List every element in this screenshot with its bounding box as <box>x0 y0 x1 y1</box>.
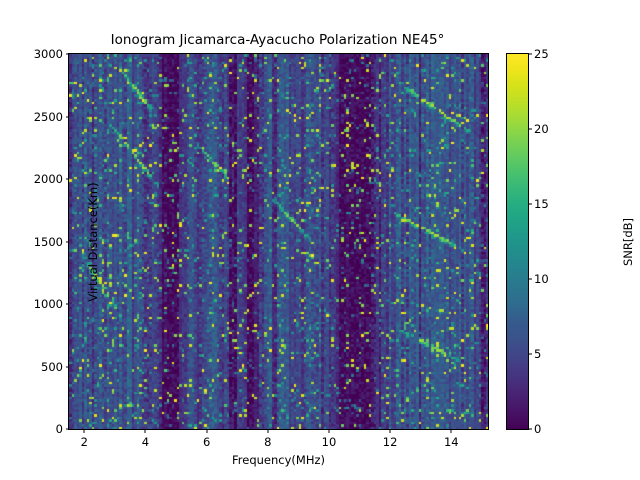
colorbar-label: SNR[dB] <box>548 162 640 322</box>
y-tick-label: 2000 <box>34 172 63 186</box>
x-axis-label: Frequency(MHz) <box>69 453 488 467</box>
y-tick-mark <box>66 179 70 180</box>
x-tick-mark <box>267 429 268 433</box>
x-tick-mark <box>84 429 85 433</box>
x-tick-mark <box>328 429 329 433</box>
colorbar-tick-label: 10 <box>534 272 549 286</box>
y-tick-label: 0 <box>56 422 63 436</box>
colorbar-tick-label: 25 <box>534 47 549 61</box>
ionogram-heatmap <box>69 54 488 429</box>
y-tick-mark <box>66 241 70 242</box>
x-tick-label: 6 <box>203 435 210 449</box>
colorbar-tick-mark <box>528 129 532 130</box>
colorbar-tick-mark <box>528 279 532 280</box>
y-tick-label: 3000 <box>34 47 63 61</box>
y-tick-mark <box>66 304 70 305</box>
x-tick-label: 14 <box>444 435 459 449</box>
y-tick-mark <box>66 366 70 367</box>
colorbar-tick-label: 15 <box>534 197 549 211</box>
y-tick-label: 1500 <box>34 235 63 249</box>
colorbar-tick-mark <box>528 354 532 355</box>
x-tick-label: 2 <box>81 435 88 449</box>
y-tick-label: 2500 <box>34 110 63 124</box>
x-tick-mark <box>145 429 146 433</box>
x-tick-label: 8 <box>264 435 271 449</box>
x-tick-label: 10 <box>322 435 337 449</box>
x-tick-mark <box>206 429 207 433</box>
colorbar-tick-mark <box>528 54 532 55</box>
y-tick-mark <box>66 429 70 430</box>
colorbar-tick-mark <box>528 204 532 205</box>
snr-colorbar: 0510152025 SNR[dB] <box>506 53 529 430</box>
colorbar-tick-label: 20 <box>534 122 549 136</box>
y-tick-mark <box>66 116 70 117</box>
x-tick-label: 12 <box>383 435 398 449</box>
x-tick-mark <box>451 429 452 433</box>
chart-title-line-1: Ionogram Jicamarca-Ayacucho Polarization… <box>68 32 487 48</box>
y-tick-mark <box>66 54 70 55</box>
colorbar-tick-label: 0 <box>534 422 541 436</box>
ionogram-plot-area: Virtual Distance(Km) 0500100015002000250… <box>68 53 489 430</box>
x-tick-mark <box>390 429 391 433</box>
y-tick-label: 500 <box>41 360 63 374</box>
colorbar-tick-mark <box>528 429 532 430</box>
colorbar-tick-label: 5 <box>534 347 541 361</box>
figure-canvas: Ionogram Jicamarca-Ayacucho Polarization… <box>0 0 640 480</box>
x-tick-label: 4 <box>142 435 149 449</box>
y-tick-label: 1000 <box>34 297 63 311</box>
